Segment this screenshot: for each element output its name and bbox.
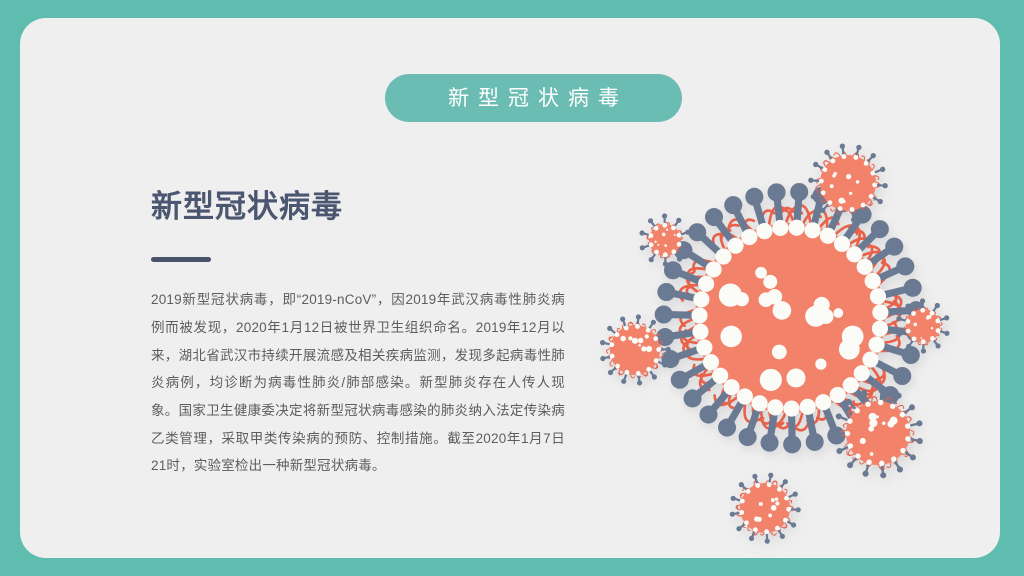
virus-mid-left bbox=[600, 314, 671, 385]
virus-lower-right bbox=[832, 388, 922, 479]
virus-right-small bbox=[896, 298, 949, 353]
virus-bottom bbox=[730, 473, 801, 544]
coronavirus-illustration bbox=[560, 108, 1020, 568]
slide-panel: 新型冠状病毒 新型冠状病毒 2019新型冠状病毒，即“2019-nCoV”，因2… bbox=[20, 18, 1000, 558]
slide-title-pill-label: 新型冠状病毒 bbox=[439, 88, 628, 109]
body-paragraph: 2019新型冠状病毒，即“2019-nCoV”，因2019年武汉病毒性肺炎病例而… bbox=[151, 286, 565, 480]
content-column: 新型冠状病毒 2019新型冠状病毒，即“2019-nCoV”，因2019年武汉病… bbox=[151, 188, 571, 493]
coronavirus-cluster-icon bbox=[560, 108, 1020, 568]
page-title: 新型冠状病毒 bbox=[151, 188, 571, 225]
title-divider bbox=[151, 257, 211, 262]
virus-top-right bbox=[808, 144, 888, 223]
slide-root: 新型冠状病毒 新型冠状病毒 2019新型冠状病毒，即“2019-nCoV”，因2… bbox=[0, 0, 1024, 576]
